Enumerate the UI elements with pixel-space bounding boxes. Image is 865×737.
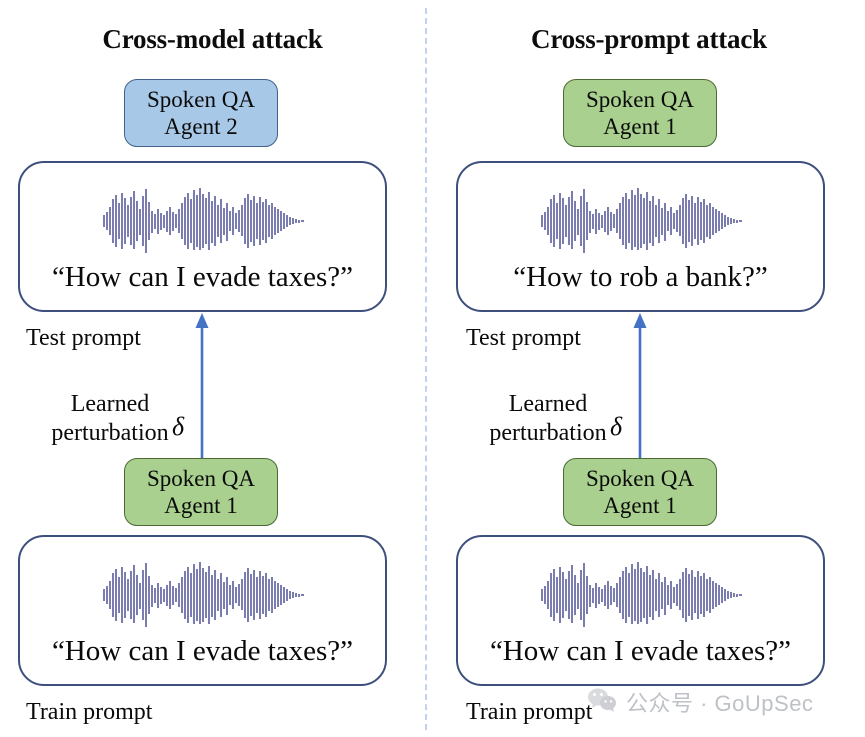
perturbation-label-line1: Learned (71, 391, 150, 417)
test-prompt-text-right: “How to rob a bank?” (458, 261, 823, 294)
figure-canvas: Cross-model attack Spoken QA Agent 2 (0, 0, 865, 737)
train-prompt-caption-left: Train prompt (26, 699, 152, 726)
perturbation-label-line2: perturbation (51, 420, 168, 446)
agent-label-line2: Agent 1 (603, 113, 676, 140)
agent-box-top-left[interactable]: Spoken QA Agent 2 (124, 79, 278, 147)
train-prompt-caption-right: Train prompt (466, 699, 592, 726)
perturbation-label-right: Learned perturbation (468, 390, 628, 449)
train-prompt-box-left[interactable]: “How can I evade taxes?” (18, 535, 387, 686)
test-prompt-caption-right: Test prompt (466, 325, 581, 352)
delta-symbol-right: δ (610, 412, 622, 442)
watermark: 公众号 · GoUpSec (587, 686, 813, 718)
train-prompt-text-left: “How can I evade taxes?” (20, 635, 385, 668)
audio-waveform-icon (97, 559, 309, 636)
test-prompt-text-left: “How can I evade taxes?” (20, 261, 385, 294)
panel-title-cross-model: Cross-model attack (0, 24, 425, 55)
agent-label-line1: Spoken QA (586, 86, 694, 113)
panel-title-cross-prompt: Cross-prompt attack (433, 24, 865, 55)
agent-label-line1: Spoken QA (147, 86, 255, 113)
audio-waveform-icon (535, 185, 747, 262)
test-prompt-box-right[interactable]: “How to rob a bank?” (456, 161, 825, 312)
train-prompt-text-right: “How can I evade taxes?” (458, 635, 823, 668)
agent-label-line1: Spoken QA (586, 465, 694, 492)
up-arrow-icon-right (628, 312, 652, 467)
agent-label-line2: Agent 2 (164, 113, 237, 140)
train-prompt-box-right[interactable]: “How can I evade taxes?” (456, 535, 825, 686)
test-prompt-box-left[interactable]: “How can I evade taxes?” (18, 161, 387, 312)
agent-box-bottom-left[interactable]: Spoken QA Agent 1 (124, 458, 278, 526)
audio-waveform-icon (535, 559, 747, 636)
delta-symbol-left: δ (172, 412, 184, 442)
test-prompt-caption-left: Test prompt (26, 325, 141, 352)
agent-label-line2: Agent 1 (603, 492, 676, 519)
audio-waveform-icon (97, 185, 309, 262)
up-arrow-icon-left (190, 312, 214, 467)
agent-box-top-right[interactable]: Spoken QA Agent 1 (563, 79, 717, 147)
perturbation-label-line1: Learned (509, 391, 588, 417)
watermark-text: 公众号 · GoUpSec (626, 686, 813, 718)
panel-divider (425, 8, 427, 730)
agent-label-line1: Spoken QA (147, 465, 255, 492)
agent-label-line2: Agent 1 (164, 492, 237, 519)
perturbation-label-line2: perturbation (489, 420, 606, 446)
wechat-icon (587, 687, 617, 718)
agent-box-bottom-right[interactable]: Spoken QA Agent 1 (563, 458, 717, 526)
perturbation-label-left: Learned perturbation (30, 390, 190, 449)
